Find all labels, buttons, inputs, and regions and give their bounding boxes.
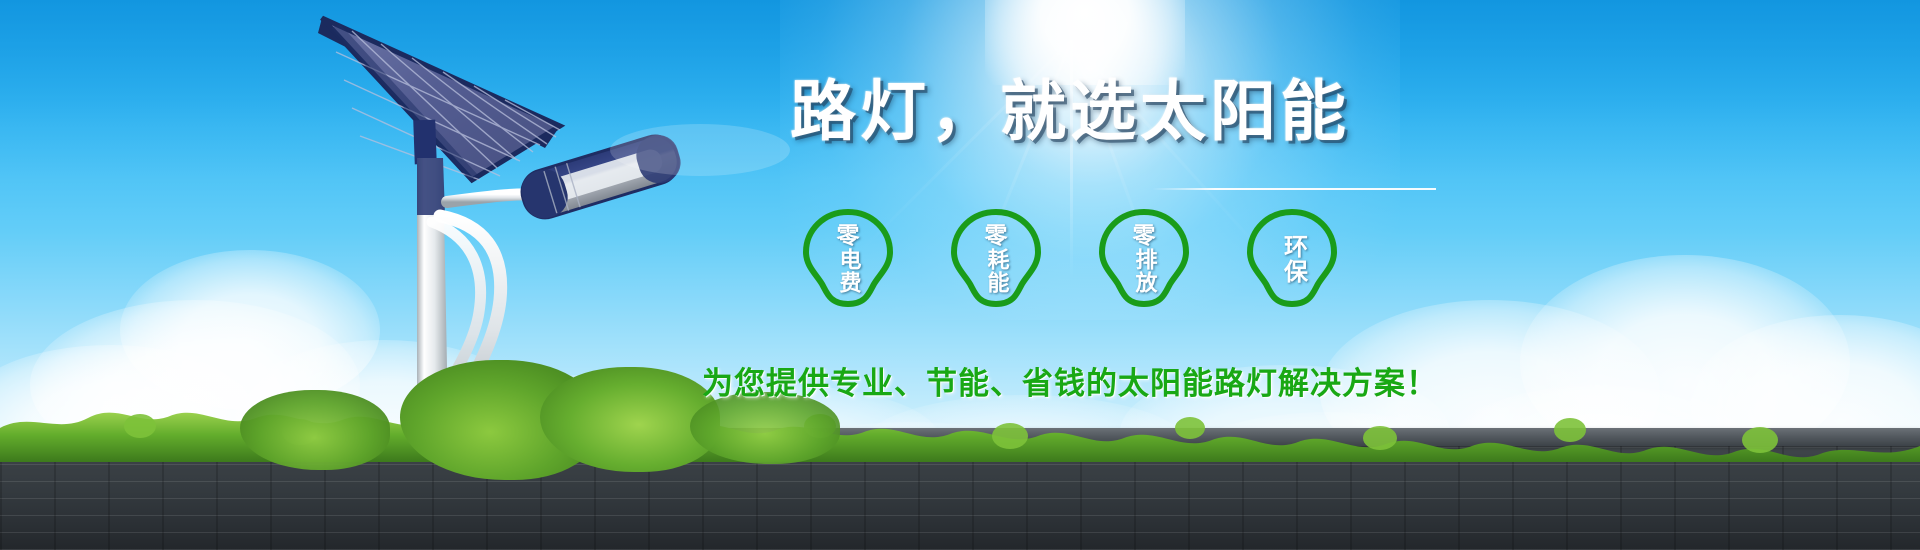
banner-subtitle: 为您提供专业、节能、省钱的太阳能路灯解决方案！ bbox=[630, 358, 1510, 403]
wall-cap bbox=[0, 428, 1920, 446]
badge-eco-friendly: 环保 bbox=[1236, 206, 1348, 310]
badge-label: 排放 bbox=[1133, 248, 1156, 294]
feature-badge-list: 零 电费 零 耗能 零 排放 bbox=[732, 206, 1408, 310]
badge-label: 环保 bbox=[1280, 234, 1305, 284]
title-divider bbox=[1152, 188, 1436, 190]
badge-text: 零 耗能 bbox=[985, 222, 1008, 293]
lamp-head-icon bbox=[517, 130, 686, 223]
page-title: 路灯，就选太阳能 bbox=[700, 78, 1440, 144]
badge-zero-char: 零 bbox=[985, 224, 1008, 247]
badge-text: 环保 bbox=[1280, 232, 1305, 284]
ground-scene bbox=[0, 410, 1920, 550]
solar-street-light-banner: 路灯，就选太阳能 零 电费 零 耗能 bbox=[0, 0, 1920, 550]
banner-content: 路灯，就选太阳能 零 电费 零 耗能 bbox=[700, 78, 1440, 144]
solar-panel-icon bbox=[318, 18, 560, 180]
badge-label: 耗能 bbox=[985, 248, 1008, 294]
tiled-wall bbox=[0, 432, 1920, 550]
badge-text: 零 排放 bbox=[1133, 222, 1156, 293]
sun-icon bbox=[985, 0, 1185, 85]
badge-zero-energy-consumption: 零 耗能 bbox=[940, 206, 1052, 310]
badge-zero-emission: 零 排放 bbox=[1088, 206, 1200, 310]
badge-zero-char: 零 bbox=[1133, 224, 1156, 247]
badge-zero-electricity-cost: 零 电费 bbox=[792, 206, 904, 310]
badge-label: 电费 bbox=[837, 248, 860, 294]
badge-text: 零 电费 bbox=[837, 222, 860, 293]
badge-zero-char: 零 bbox=[837, 224, 860, 247]
